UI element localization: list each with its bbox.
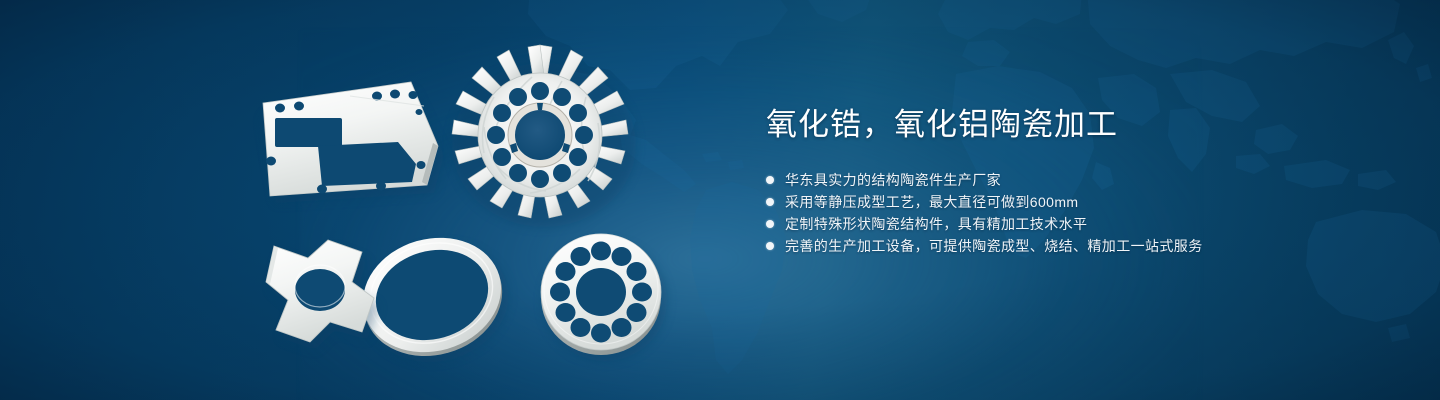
list-item-label: 采用等静压成型工艺，最大直径可做到600mm [785, 191, 1078, 213]
ceramic-ring [349, 220, 522, 378]
bullet-dot-icon [766, 198, 774, 206]
list-item-label: 完善的生产加工设备，可提供陶瓷成型、烧结、精加工一站式服务 [785, 235, 1203, 257]
list-item-label: 定制特殊形状陶瓷结构件，具有精加工技术水平 [785, 213, 1087, 235]
ceramic-perforated-disc [541, 234, 667, 361]
page-title: 氧化锆，氧化铝陶瓷加工 [766, 108, 1386, 143]
list-item: 定制特殊形状陶瓷结构件，具有精加工技术水平 [766, 213, 1386, 235]
ceramic-machined-plate [262, 82, 444, 203]
list-item: 华东具实力的结构陶瓷件生产厂家 [766, 169, 1386, 191]
bullet-dot-icon [766, 220, 774, 228]
product-collage [0, 0, 720, 400]
ceramic-cross-plate [266, 240, 379, 350]
bullet-dot-icon [766, 176, 774, 184]
list-item-label: 华东具实力的结构陶瓷件生产厂家 [785, 169, 1001, 191]
banner-content: 氧化锆，氧化铝陶瓷加工 华东具实力的结构陶瓷件生产厂家 采用等静压成型工艺，最大… [766, 108, 1386, 257]
ceramic-impeller-rotor [452, 45, 636, 227]
hero-banner: 氧化锆，氧化铝陶瓷加工 华东具实力的结构陶瓷件生产厂家 采用等静压成型工艺，最大… [0, 0, 1440, 400]
list-item: 采用等静压成型工艺，最大直径可做到600mm [766, 191, 1386, 213]
feature-list: 华东具实力的结构陶瓷件生产厂家 采用等静压成型工艺，最大直径可做到600mm 定… [766, 169, 1386, 257]
list-item: 完善的生产加工设备，可提供陶瓷成型、烧结、精加工一站式服务 [766, 235, 1386, 257]
bullet-dot-icon [766, 242, 774, 250]
